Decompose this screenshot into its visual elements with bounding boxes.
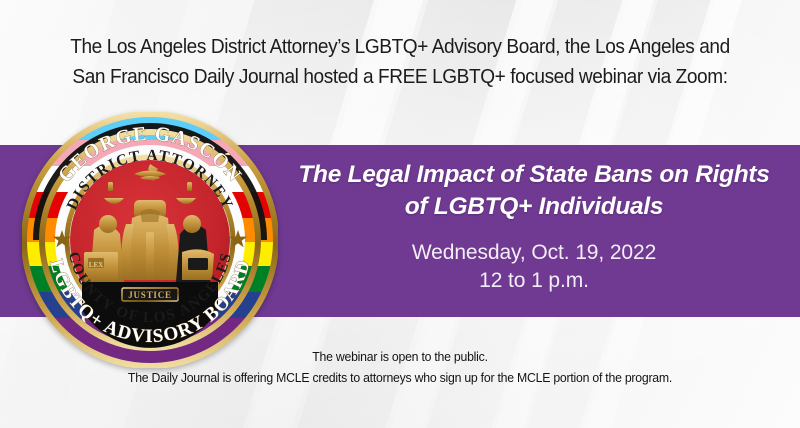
event-details: The Legal Impact of State Bans on Rights… <box>268 145 800 317</box>
headline: The Los Angeles District Attorney’s LGBT… <box>28 32 772 92</box>
event-title-line-2: of LGBTQ+ Individuals <box>268 191 800 223</box>
webinar-flyer: The Los Angeles District Attorney’s LGBT… <box>0 0 800 428</box>
event-time: 12 to 1 p.m. <box>268 267 800 295</box>
event-date: Wednesday, Oct. 19, 2022 <box>268 239 800 267</box>
event-title-line-1: The Legal Impact of State Bans on Rights <box>268 159 800 191</box>
headline-line-2: San Francisco Daily Journal hosted a FRE… <box>28 62 772 92</box>
seal-graphic: LEX JUSTICE GEORGE GASCÓN LGBTQ+ ADV <box>22 112 278 368</box>
event-title: The Legal Impact of State Bans on Rights… <box>268 159 800 223</box>
headline-line-1: The Los Angeles District Attorney’s LGBT… <box>28 32 772 62</box>
footnote: The webinar is open to the public. The D… <box>28 346 772 388</box>
seal: LEX JUSTICE GEORGE GASCÓN LGBTQ+ ADV <box>22 112 278 368</box>
seal-book-label: LEX <box>89 261 103 269</box>
footnote-line-1: The webinar is open to the public. <box>28 346 772 367</box>
seal-justice-caption: JUSTICE <box>128 290 172 300</box>
footnote-line-2: The Daily Journal is offering MCLE credi… <box>28 367 772 388</box>
event-datetime: Wednesday, Oct. 19, 2022 12 to 1 p.m. <box>268 239 800 295</box>
